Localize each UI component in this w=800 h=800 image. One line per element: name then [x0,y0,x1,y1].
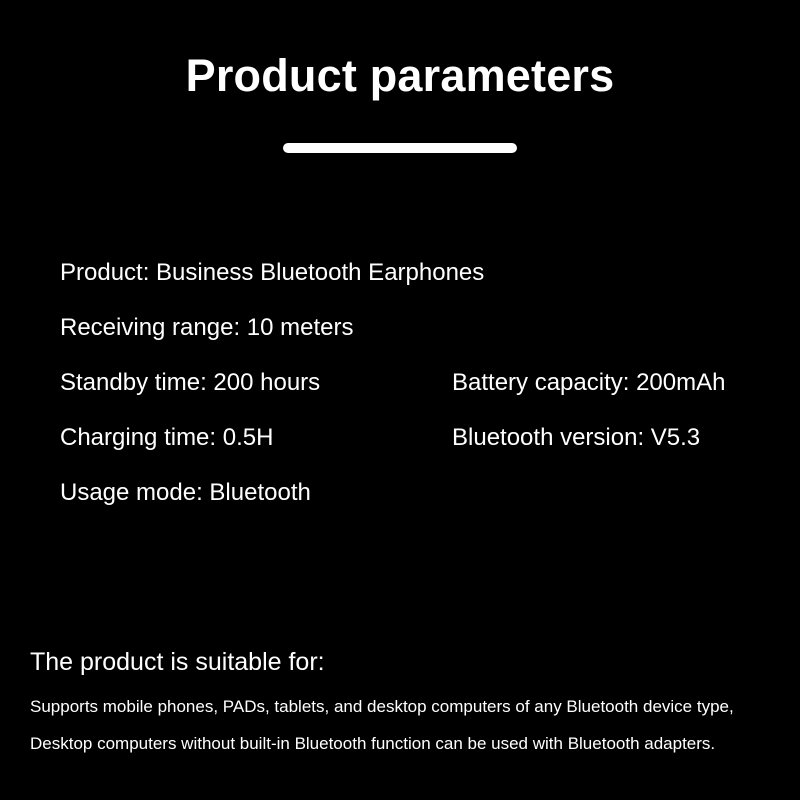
spec-item-battery-capacity: Battery capacity: 200mAh [452,368,725,398]
spec-list: Product: Business Bluetooth Earphones Re… [60,258,784,533]
spec-row: Usage mode: Bluetooth [60,478,784,533]
spec-item-product: Product: Business Bluetooth Earphones [60,258,484,288]
spec-item-bluetooth-version: Bluetooth version: V5.3 [452,423,700,453]
suitability-heading: The product is suitable for: [30,646,780,679]
spec-item-charging-time: Charging time: 0.5H [60,423,273,453]
spec-row: Receiving range: 10 meters [60,313,784,368]
spec-item-usage-mode: Usage mode: Bluetooth [60,478,311,508]
spec-item-standby-time: Standby time: 200 hours [60,368,320,398]
header: Product parameters [0,52,800,153]
spec-row: Standby time: 200 hours Battery capacity… [60,368,784,423]
spec-row: Product: Business Bluetooth Earphones [60,258,784,313]
suitability-line: Supports mobile phones, PADs, tablets, a… [30,688,780,725]
suitability-section: The product is suitable for: Supports mo… [30,646,780,762]
suitability-line: Desktop computers without built-in Bluet… [30,725,780,762]
spec-row: Charging time: 0.5H Bluetooth version: V… [60,423,784,478]
title-divider [283,143,517,153]
spec-item-receiving-range: Receiving range: 10 meters [60,313,353,343]
page-title: Product parameters [0,52,800,101]
suitability-body: Supports mobile phones, PADs, tablets, a… [30,688,780,762]
product-parameters-page: Product parameters Product: Business Blu… [0,0,800,800]
